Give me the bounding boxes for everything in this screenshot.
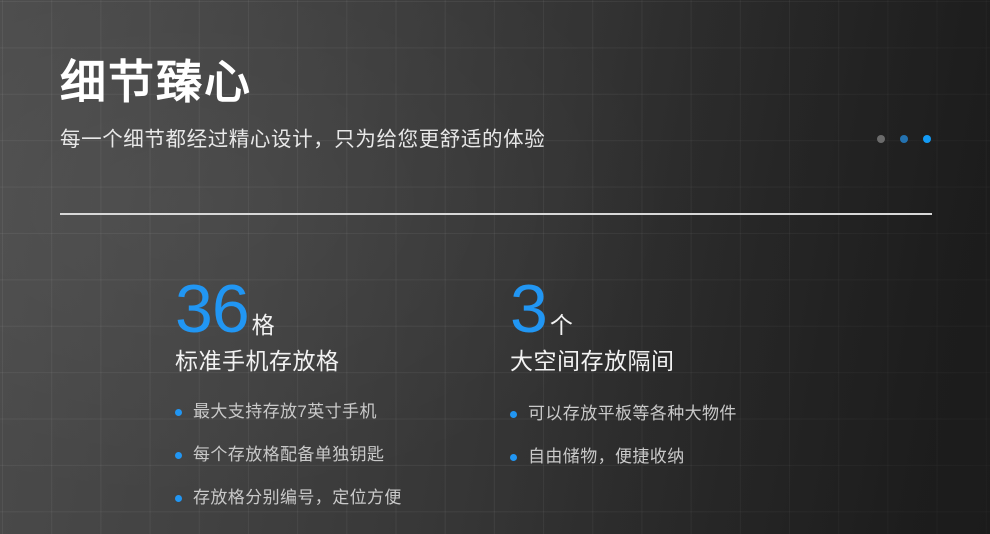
list-item: 最大支持存放7英寸手机 [175,401,420,423]
slide-header: 细节臻心 每一个细节都经过精心设计，只为给您更舒适的体验 [60,58,940,156]
list-item-label: 每个存放格配备单独钥匙 [193,444,384,466]
list-item: 存放格分别编号，定位方便 [175,487,420,509]
bullet-dot-icon [510,411,517,418]
list-item-label: 可以存放平板等各种大物件 [528,403,737,425]
list-item: 可以存放平板等各种大物件 [510,403,780,425]
stat-value-row: 36 格 [175,278,420,341]
page-subtitle: 每一个细节都经过精心设计，只为给您更舒适的体验 [60,126,940,154]
list-item: 每个存放格配备单独钥匙 [175,444,420,466]
pager-dot-1[interactable] [877,135,885,143]
stat-unit: 格 [252,314,275,341]
header-divider [60,213,932,215]
bullet-dot-icon [510,454,517,461]
bullet-dot-icon [175,452,182,459]
bullet-dot-icon [175,409,182,416]
stat-label: 大空间存放隔间 [510,348,780,376]
stat-number: 3 [510,278,547,341]
stat-number: 36 [175,278,249,341]
stat-block-phone-slots: 36 格 标准手机存放格 最大支持存放7英寸手机 每个存放格配备单独钥匙 存放格… [60,278,420,530]
pager-dots[interactable] [877,135,931,143]
page-title: 细节臻心 [60,58,940,107]
feature-list: 可以存放平板等各种大物件 自由储物，便捷收纳 [510,403,780,468]
subtitle-row: 每一个细节都经过精心设计，只为给您更舒适的体验 [60,126,940,156]
feature-list: 最大支持存放7英寸手机 每个存放格配备单独钥匙 存放格分别编号，定位方便 [175,401,420,509]
pager-dot-3[interactable] [923,135,931,143]
stat-block-large-compartments: 3 个 大空间存放隔间 可以存放平板等各种大物件 自由储物，便捷收纳 [420,278,780,530]
stats-row: 36 格 标准手机存放格 最大支持存放7英寸手机 每个存放格配备单独钥匙 存放格… [60,278,940,530]
slide-canvas: 细节臻心 每一个细节都经过精心设计，只为给您更舒适的体验 36 格 标准手机存放… [0,0,990,534]
bullet-dot-icon [175,495,182,502]
list-item-label: 最大支持存放7英寸手机 [193,401,377,423]
stat-unit: 个 [550,314,573,341]
list-item-label: 存放格分别编号，定位方便 [193,487,402,509]
stat-label: 标准手机存放格 [175,348,420,376]
stat-value-row: 3 个 [510,278,780,341]
pager-dot-2[interactable] [900,135,908,143]
list-item-label: 自由储物，便捷收纳 [528,446,685,468]
list-item: 自由储物，便捷收纳 [510,446,780,468]
